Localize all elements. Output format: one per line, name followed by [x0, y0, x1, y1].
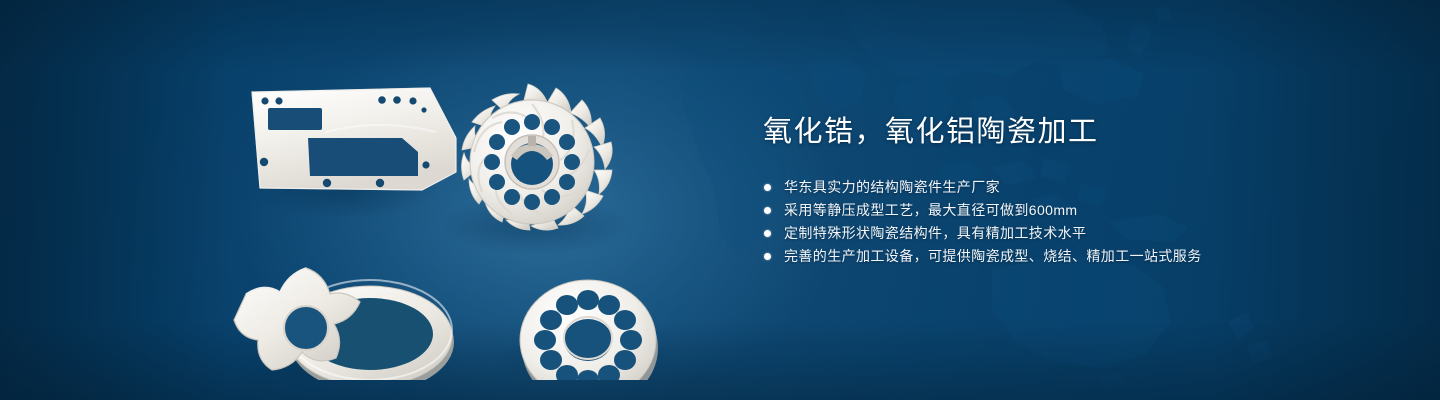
bullet-dot-icon: [764, 207, 771, 214]
ceramic-perforated-disc: [520, 280, 658, 380]
bullet-dot-icon: [764, 253, 771, 260]
list-item: 采用等静压成型工艺，最大直径可做到600mm: [763, 199, 1383, 222]
product-image-group: [230, 40, 710, 380]
page-title: 氧化锆，氧化铝陶瓷加工: [763, 112, 1383, 152]
hero-banner: 氧化锆，氧化铝陶瓷加工 华东具实力的结构陶瓷件生产厂家 采用等静压成型工艺，最大…: [0, 0, 1440, 400]
list-item: 定制特殊形状陶瓷结构件，具有精加工技术水平: [763, 222, 1383, 245]
list-item: 完善的生产加工设备，可提供陶瓷成型、烧结、精加工一站式服务: [763, 245, 1383, 268]
list-item-label: 华东具实力的结构陶瓷件生产厂家: [784, 176, 1000, 199]
list-item-label: 定制特殊形状陶瓷结构件，具有精加工技术水平: [784, 222, 1086, 245]
bullet-dot-icon: [764, 184, 771, 191]
feature-list: 华东具实力的结构陶瓷件生产厂家 采用等静压成型工艺，最大直径可做到600mm 定…: [763, 176, 1383, 268]
list-item-label: 完善的生产加工设备，可提供陶瓷成型、烧结、精加工一站式服务: [784, 245, 1202, 268]
banner-copy: 氧化锆，氧化铝陶瓷加工 华东具实力的结构陶瓷件生产厂家 采用等静压成型工艺，最大…: [763, 112, 1383, 268]
list-item-label: 采用等静压成型工艺，最大直径可做到600mm: [784, 199, 1077, 222]
list-item: 华东具实力的结构陶瓷件生产厂家: [763, 176, 1383, 199]
ceramic-machined-plate: [252, 88, 456, 190]
bullet-dot-icon: [764, 230, 771, 237]
